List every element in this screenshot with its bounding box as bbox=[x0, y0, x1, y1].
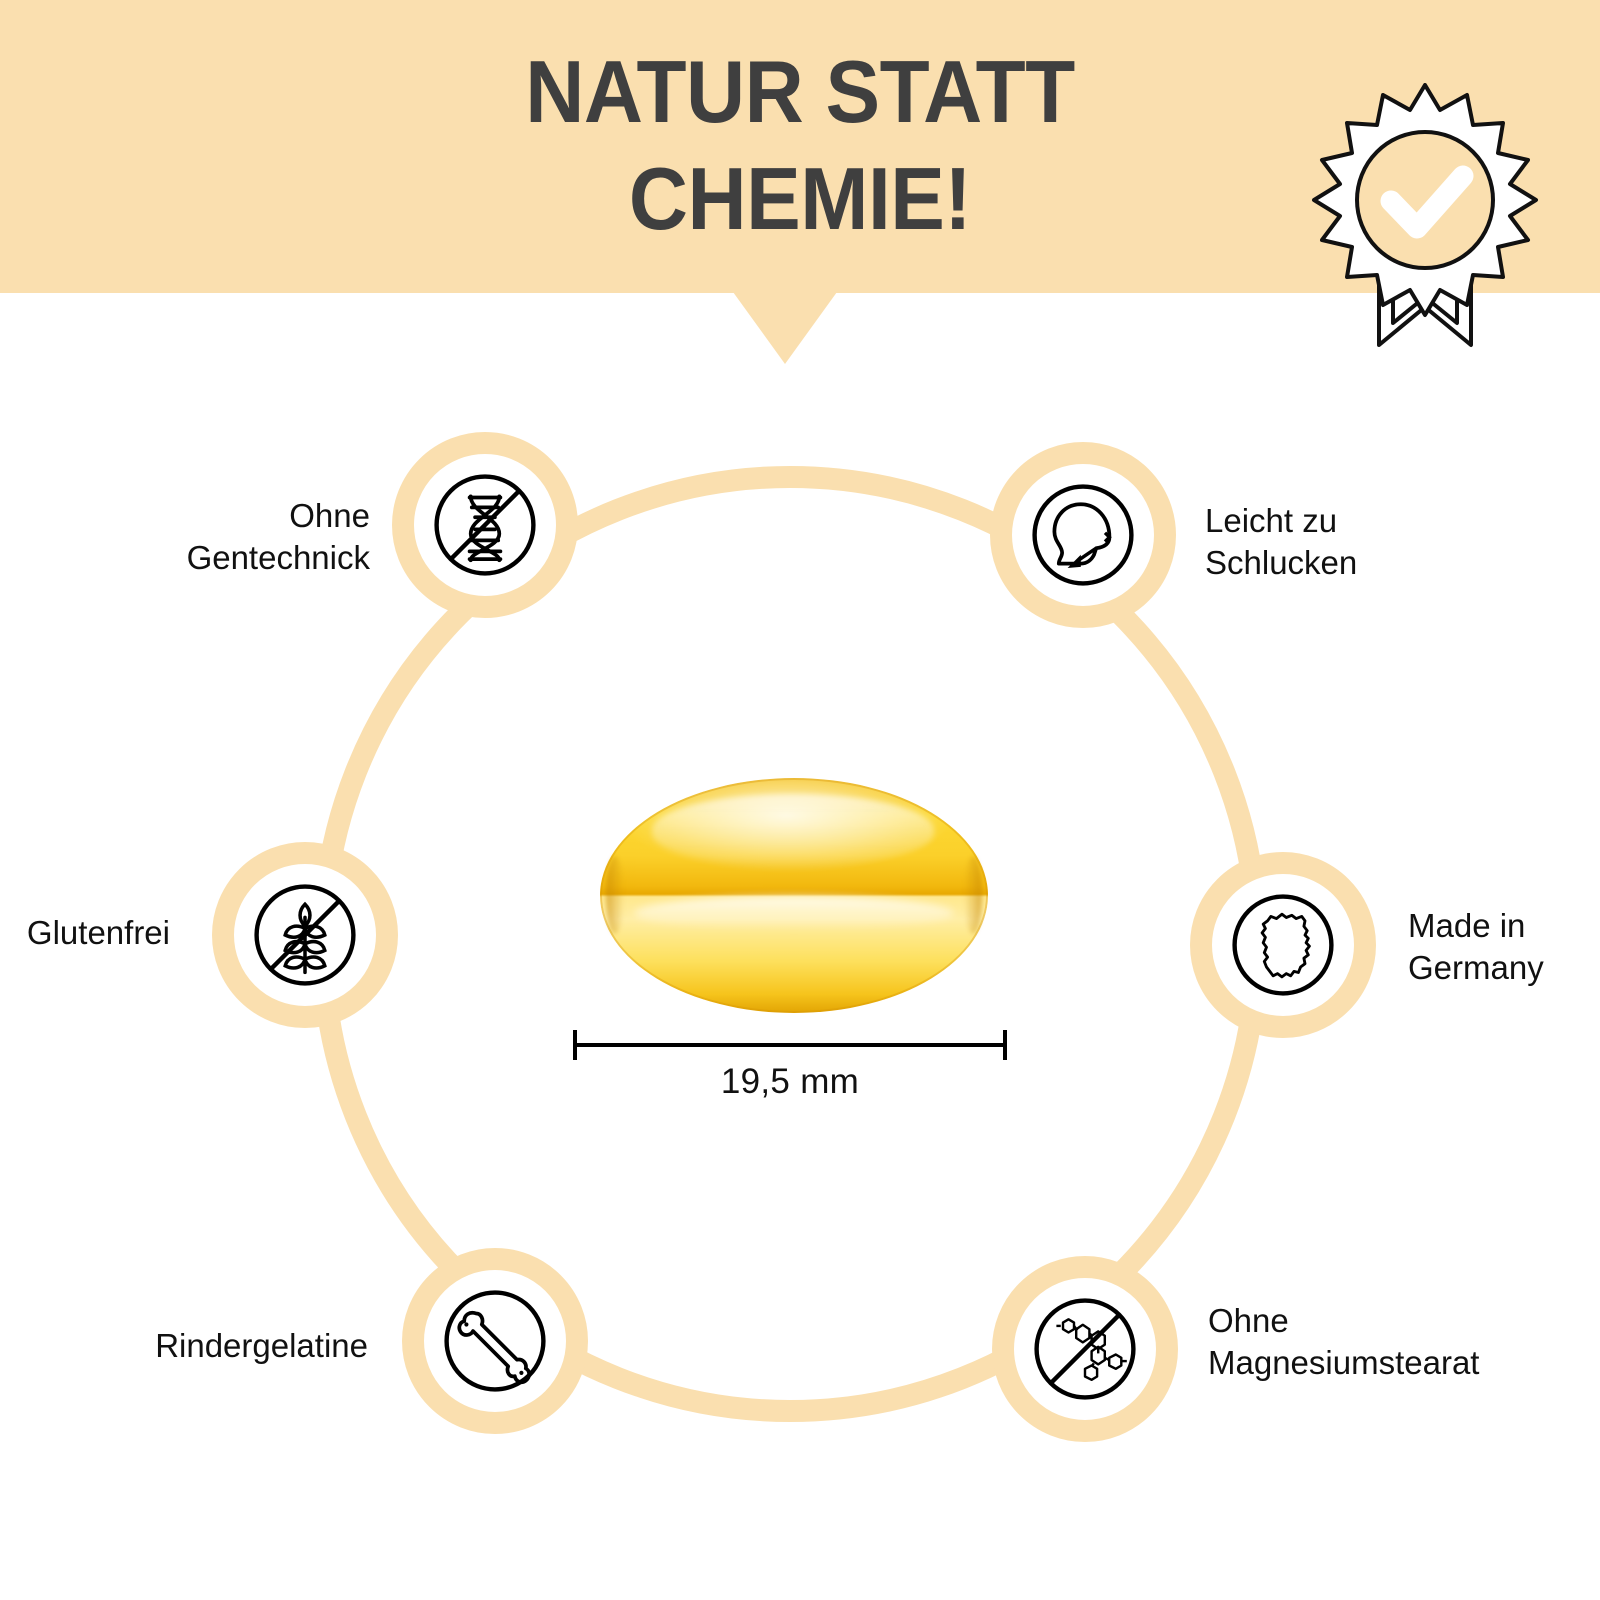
bone-icon bbox=[440, 1286, 550, 1396]
head-swallow-icon bbox=[1028, 480, 1138, 590]
feature-label-gelatine: Rindergelatine bbox=[28, 1325, 368, 1367]
banner-speech-tail bbox=[733, 292, 837, 364]
page-title: NATUR STATT CHEMIE! bbox=[363, 38, 1237, 253]
measurement-label: 19,5 mm bbox=[573, 1062, 1007, 1102]
feature-bubble-magnesium-stearate[interactable] bbox=[992, 1256, 1178, 1442]
quality-seal-badge bbox=[1307, 83, 1543, 353]
capsule-edge-left bbox=[606, 856, 624, 934]
infographic-canvas: NATUR STATT CHEMIE! bbox=[0, 0, 1600, 1600]
capsule-edge-right bbox=[964, 856, 982, 934]
feature-label-gmo: Ohne Gentechnick bbox=[30, 495, 370, 579]
capsule-highlight-top bbox=[652, 794, 934, 866]
feature-bubble-gmo[interactable] bbox=[392, 432, 578, 618]
product-capsule bbox=[600, 778, 988, 1013]
germany-map-icon bbox=[1228, 890, 1338, 1000]
checkmark-rosette-icon bbox=[1307, 83, 1543, 353]
page-title-line-2: CHEMIE! bbox=[363, 145, 1237, 252]
feature-bubble-swallow[interactable] bbox=[990, 442, 1176, 628]
page-title-line-1: NATUR STATT bbox=[363, 38, 1237, 145]
no-molecule-icon bbox=[1030, 1294, 1140, 1404]
feature-label-gluten: Glutenfrei bbox=[20, 912, 170, 954]
feature-label-germany: Made in Germany bbox=[1408, 905, 1588, 989]
feature-bubble-gluten[interactable] bbox=[212, 842, 398, 1028]
no-gmo-dna-icon bbox=[430, 470, 540, 580]
feature-bubble-gelatine[interactable] bbox=[402, 1248, 588, 1434]
feature-bubble-germany[interactable] bbox=[1190, 852, 1376, 1038]
feature-label-swallow: Leicht zu Schlucken bbox=[1205, 500, 1565, 584]
measurement-cap-left bbox=[573, 1030, 577, 1060]
measurement-ruler bbox=[573, 1030, 1007, 1060]
no-wheat-icon bbox=[250, 880, 360, 990]
measurement-cap-right bbox=[1003, 1030, 1007, 1060]
feature-label-magnesium-stearate: Ohne Magnesiumstearat bbox=[1208, 1300, 1588, 1384]
measurement-line bbox=[573, 1043, 1007, 1047]
capsule-highlight-band bbox=[634, 896, 954, 930]
